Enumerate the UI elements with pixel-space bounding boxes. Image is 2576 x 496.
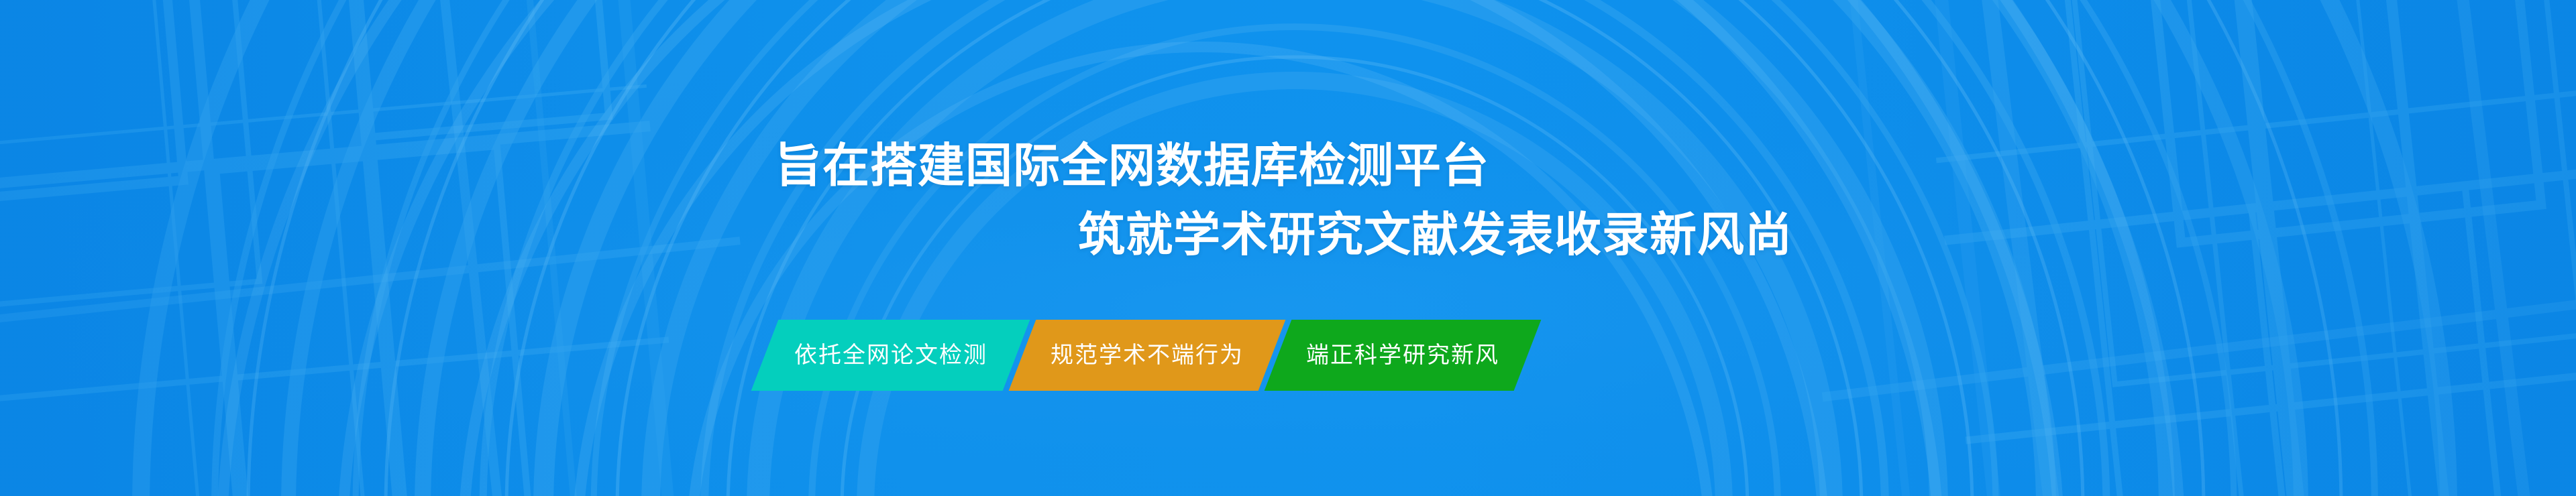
headline-line-2: 筑就学术研究文献发表收录新风尚	[0, 200, 2576, 269]
feature-tag-label: 端正科学研究新风	[1306, 344, 1499, 367]
feature-tag-label: 规范学术不端行为	[1051, 344, 1244, 367]
feature-tag-research-ethos[interactable]: 端正科学研究新风	[1265, 320, 1542, 391]
feature-tag-detection[interactable]: 依托全网论文检测	[751, 320, 1030, 391]
headline-line-1: 旨在搭建国际全网数据库检测平台	[0, 131, 2576, 200]
headline-block: 旨在搭建国际全网数据库检测平台 筑就学术研究文献发表收录新风尚	[0, 131, 2576, 269]
feature-tag-ribbon: 依托全网论文检测 规范学术不端行为 端正科学研究新风	[765, 320, 1527, 391]
promo-banner: 旨在搭建国际全网数据库检测平台 筑就学术研究文献发表收录新风尚 依托全网论文检测…	[0, 0, 2576, 496]
feature-tag-misconduct[interactable]: 规范学术不端行为	[1009, 320, 1286, 391]
feature-tag-label: 依托全网论文检测	[794, 344, 987, 367]
